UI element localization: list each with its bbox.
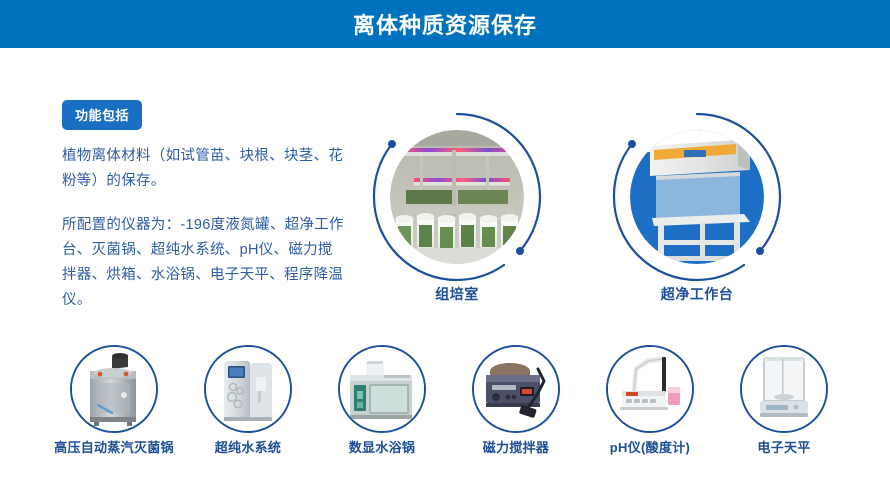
equipment-circle-ph-meter[interactable]: pH仪(酸度计) bbox=[598, 345, 702, 461]
equipment-ring bbox=[338, 345, 426, 433]
features-badge: 功能包括 bbox=[62, 100, 142, 130]
equipment-ring bbox=[204, 345, 292, 433]
electronic-balance-photo bbox=[742, 347, 826, 431]
equipment-circle-electronic-balance[interactable]: 电子天平 bbox=[732, 345, 836, 461]
equipment-ring bbox=[606, 345, 694, 433]
ph-meter-photo bbox=[608, 347, 692, 431]
ultrapure-water-system-photo bbox=[206, 347, 290, 431]
equipment-label: 电子天平 bbox=[704, 437, 864, 456]
equipment-circle-magnetic-stirrer[interactable]: 磁力搅拌器 bbox=[464, 345, 568, 461]
equipment-circle-water-bath[interactable]: 数显水浴锅 bbox=[330, 345, 434, 461]
feature-circle-tissue-culture-room[interactable]: 组培室 bbox=[368, 108, 546, 308]
feature-circle-label: 超净工作台 bbox=[608, 284, 786, 304]
autoclave-photo bbox=[72, 347, 156, 431]
features-paragraph-2: 所配置的仪器为：-196度液氮罐、超净工作台、灭菌锅、超纯水系统、pH仪、磁力搅… bbox=[62, 213, 347, 313]
features-text-panel: 功能包括 植物离体材料（如试管苗、块根、块茎、花粉等）的保存。 所配置的仪器为：… bbox=[62, 100, 347, 313]
equipment-circle-ultrapure-water[interactable]: 超纯水系统 bbox=[196, 345, 300, 461]
magnetic-stirrer-photo bbox=[474, 347, 558, 431]
equipment-ring bbox=[70, 345, 158, 433]
feature-circle-label: 组培室 bbox=[368, 284, 546, 304]
page-title: 离体种质资源保存 bbox=[0, 0, 890, 48]
features-paragraph-1: 植物离体材料（如试管苗、块根、块茎、花粉等）的保存。 bbox=[62, 144, 347, 194]
equipment-ring bbox=[740, 345, 828, 433]
equipment-circle-autoclave[interactable]: 高压自动蒸汽灭菌锅 bbox=[62, 345, 166, 461]
equipment-ring bbox=[472, 345, 560, 433]
header-banner: 离体种质资源保存 bbox=[0, 0, 890, 48]
tissue-culture-room-photo bbox=[390, 130, 524, 264]
feature-circle-clean-bench[interactable]: 超净工作台 bbox=[608, 108, 786, 308]
water-bath-photo bbox=[340, 347, 424, 431]
clean-bench-photo bbox=[630, 130, 764, 264]
